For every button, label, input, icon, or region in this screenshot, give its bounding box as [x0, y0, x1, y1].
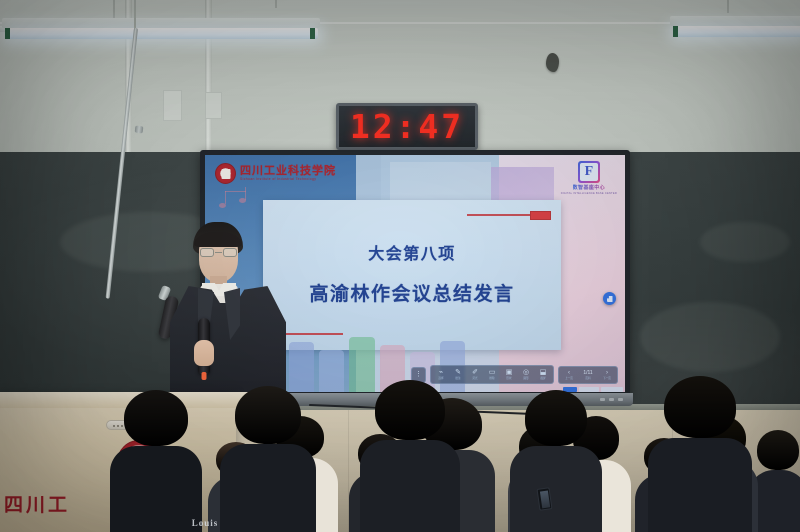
marker-icon: ✐ [472, 369, 478, 377]
light-cap [673, 26, 678, 37]
wall-panel [205, 92, 222, 119]
audience-torso [220, 444, 316, 532]
digital-wall-clock: 12:47 [336, 103, 478, 150]
toolbar-page-nav[interactable]: ‹ 上一页 1/11 页码 › 下一页 [558, 366, 618, 384]
pen-icon: ✎ [455, 369, 461, 377]
music-note-decoration-icon [219, 185, 263, 211]
light-tube [674, 26, 800, 37]
toolbar-item-label: 擦除 [489, 377, 494, 380]
prev-page-button[interactable]: ‹ 上一页 [561, 369, 577, 381]
audience-member [510, 390, 602, 532]
toolbar-capture[interactable]: ⬓截屏 [535, 368, 551, 381]
toolbar-shape[interactable]: ▣形状 [501, 368, 517, 381]
center-name-en: DIGITAL INTELLIGENCE BASE CENTER [561, 192, 617, 195]
page-label: 页码 [585, 376, 590, 380]
glasses-icon [199, 248, 238, 257]
slide-subtitle: 高渝林作会议总结发言 [263, 279, 561, 306]
university-name-cn: 四川工业科技学院 [240, 166, 336, 177]
slide-content-card: 大会第八项 高渝林作会议总结发言 [263, 200, 561, 350]
toolbar-item-label: 圆形 [523, 377, 528, 380]
clock-time: 12:47 [350, 107, 464, 146]
audience-head [664, 376, 736, 438]
slide-title: 大会第八项 [263, 240, 561, 264]
presenter [168, 222, 288, 407]
slide-decoration-top-right [467, 211, 551, 220]
audience-torso [360, 440, 460, 532]
audience-member [648, 376, 752, 532]
capture-icon: ⬓ [540, 369, 547, 377]
hoodie-graphic-text: Louis [192, 518, 219, 528]
eraser-icon: ▭ [489, 369, 496, 377]
audience: Louis [0, 398, 800, 532]
toolbar-circle[interactable]: ◎圆形 [518, 368, 534, 381]
light-housing [670, 16, 800, 26]
toolbar-item-label: 截屏 [540, 377, 545, 380]
audience-head [124, 390, 188, 446]
center-logo-mark-icon [578, 161, 600, 183]
audience-head [757, 430, 799, 470]
audience-torso [110, 446, 202, 532]
boom-suspension-wire [134, 0, 136, 30]
lecture-hall-photo: 12:47 四川工业科技学院 Sichuan Institute of Indu… [0, 0, 800, 532]
audience-head [375, 380, 445, 440]
light-cap [310, 28, 315, 39]
ceiling-light-right [668, 0, 800, 60]
boom-collar [135, 126, 144, 134]
next-page-button[interactable]: › 下一页 [599, 369, 615, 381]
prev-page-label: 上一页 [565, 376, 573, 380]
circle-icon: ◎ [523, 369, 529, 377]
toolbar-eraser[interactable]: ▭擦除 [484, 368, 500, 381]
drag-handle-icon[interactable]: ⋮ [414, 370, 423, 380]
university-seal-icon [215, 163, 236, 184]
next-page-label: 下一页 [603, 376, 611, 380]
slide-university-logo: 四川工业科技学院 Sichuan Institute of Industrial… [215, 163, 336, 184]
light-cord [113, 0, 115, 18]
center-name-cn: 数智基座中心 [573, 184, 605, 191]
toolbar-marker[interactable]: ✐荧光 [467, 368, 483, 381]
toolbar-item-label: 形状 [506, 377, 511, 380]
presenter-fringe [194, 232, 242, 247]
audience-member [360, 380, 460, 532]
audience-head [525, 390, 587, 446]
shape-icon: ▣ [506, 369, 513, 377]
audience-head [235, 386, 301, 444]
light-cord [275, 0, 277, 8]
page-indicator[interactable]: 1/11 页码 [578, 369, 598, 381]
light-cap [5, 28, 10, 39]
university-name-en: Sichuan Institute of Industrial Technolo… [240, 178, 336, 181]
audience-torso [510, 446, 602, 532]
audience-torso [648, 438, 752, 532]
audience-member [110, 390, 202, 532]
audience-member [220, 386, 316, 532]
slide-center-logo: 数智基座中心 DIGITAL INTELLIGENCE BASE CENTER [561, 161, 617, 195]
wall-fixture-icon [546, 53, 559, 72]
slide-bg-tile [390, 162, 491, 200]
light-cord [727, 0, 729, 13]
cursor-icon: ⌁ [439, 369, 443, 377]
presenter-hand [194, 340, 214, 366]
toolbar-item-label: 荧光 [472, 377, 477, 380]
